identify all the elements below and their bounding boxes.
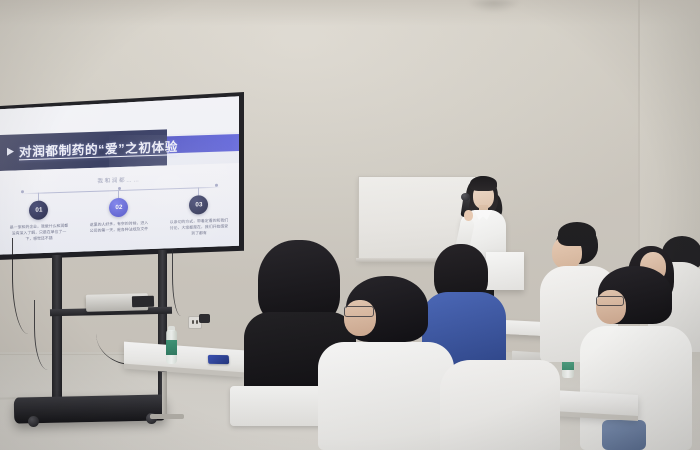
smartphone[interactable] [208, 355, 229, 364]
desk-foot [150, 414, 184, 419]
glasses-icon [596, 296, 624, 306]
attendee-torso [318, 342, 454, 450]
outlet-slot [192, 320, 194, 324]
desk-leg [162, 372, 167, 416]
wall-display[interactable]: 对润都制药的“爱”之初体验 我和润都…… 01 是一家和药企业，我做什么和润都没… [0, 92, 244, 260]
step-stem [118, 190, 119, 198]
presentation-slide: 对润都制药的“爱”之初体验 我和润都…… 01 是一家和药企业，我做什么和润都没… [0, 95, 239, 256]
attendee-hair-top [558, 222, 596, 246]
microphone-head [461, 193, 470, 201]
presenter-hand [464, 210, 473, 221]
step-text: 这里的人好多，有空的时候，进入公司的第一天，是各种法规及文件 [88, 220, 150, 234]
presenter-bangs [470, 176, 497, 191]
attendee-sleeve-blue [602, 420, 646, 450]
attendee-torso [440, 360, 560, 450]
slide-steps: 01 是一家和药企业，我做什么和润都没有深入了解，只是在单位了一下，感觉还不错 … [0, 186, 239, 243]
step-badge: 02 [109, 198, 128, 218]
ceiling-smudge [468, 0, 520, 12]
step-text: 以亲切的方式，带着定看的和我们讨论，大家都是在，我们开始感受到了都有 [168, 217, 230, 237]
slide-step: 01 是一家和药企业，我做什么和润都没有深入了解，只是在单位了一下，感觉还不错 [2, 191, 76, 243]
lectern [486, 252, 524, 290]
tv-screen: 对润都制药的“爱”之初体验 我和润都…… 01 是一家和药企业，我做什么和润都没… [0, 95, 239, 256]
step-badge: 01 [29, 200, 48, 220]
slide-step: 03 以亲切的方式，带着定看的和我们讨论，大家都是在，我们开始感受到了都有 [162, 186, 236, 238]
tv-stand-caster [28, 416, 39, 427]
play-triangle-icon [7, 148, 14, 156]
chair-back [230, 386, 326, 426]
glasses-icon [344, 306, 374, 317]
power-plug [199, 314, 210, 323]
step-stem [198, 187, 199, 195]
outlet-slot [196, 320, 198, 324]
step-stem [38, 193, 39, 201]
step-badge: 03 [189, 195, 208, 215]
bottle-label [166, 340, 177, 355]
classroom-presentation-photo: 对润都制药的“爱”之初体验 我和润都…… 01 是一家和药企业，我做什么和润都没… [0, 0, 700, 450]
shelf-device-panel [132, 296, 154, 308]
slide-step: 02 这里的人好多，有空的时候，进入公司的第一天，是各种法规及文件 [82, 189, 156, 235]
ceiling-shadow [0, 0, 700, 26]
